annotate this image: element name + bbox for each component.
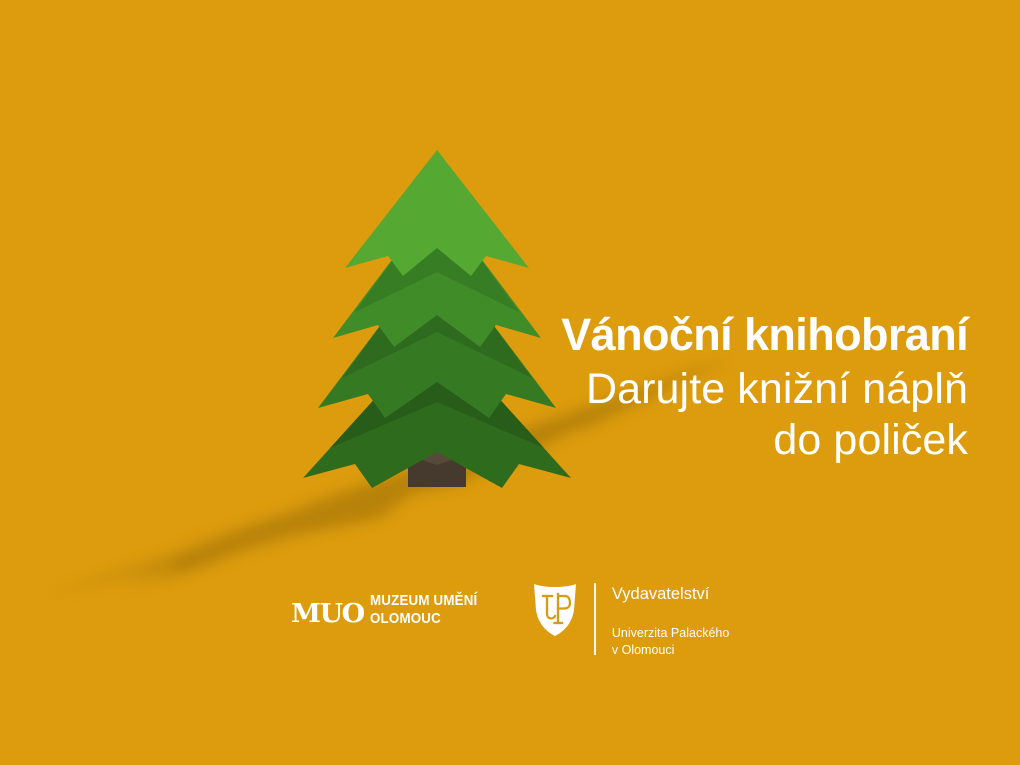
muo-logo-line-2: OLOMOUC <box>370 611 477 628</box>
poster-title: Vánoční knihobraní <box>348 312 968 357</box>
muo-logo[interactable]: muo MUZEUM UMĚNÍ OLOMOUC <box>291 575 487 628</box>
poster-subtitle-line-1: Darujte knižní náplň <box>348 364 968 415</box>
up-logo[interactable]: Vydavatelství Univerzita Palackého v Olo… <box>532 575 729 659</box>
headline-block: Vánoční knihobraní Darujte knižní náplň … <box>348 312 968 465</box>
up-logo-text: Vydavatelství Univerzita Palackého v Olo… <box>612 581 729 659</box>
up-shield-icon <box>532 581 578 637</box>
muo-logo-line-1: MUZEUM UMĚNÍ <box>370 593 477 610</box>
logo-divider <box>594 583 596 655</box>
poster-subtitle-line-2: do poliček <box>348 415 968 466</box>
up-publisher-title: Vydavatelství <box>612 585 729 605</box>
poster-subtitle: Darujte knižní náplň do poliček <box>348 364 968 465</box>
muo-logo-text: MUZEUM UMĚNÍ OLOMOUC <box>370 591 477 627</box>
poster-canvas: Vánoční knihobraní Darujte knižní náplň … <box>0 0 1020 765</box>
up-university-name: Univerzita Palackého v Olomouci <box>612 625 729 659</box>
muo-wordmark: muo <box>291 591 364 628</box>
tree-tier-1 <box>345 150 529 276</box>
logo-bar: muo MUZEUM UMĚNÍ OLOMOUC <box>0 575 1020 665</box>
up-university-line-1: Univerzita Palackého <box>612 625 729 642</box>
up-university-line-2: v Olomouci <box>612 642 729 659</box>
